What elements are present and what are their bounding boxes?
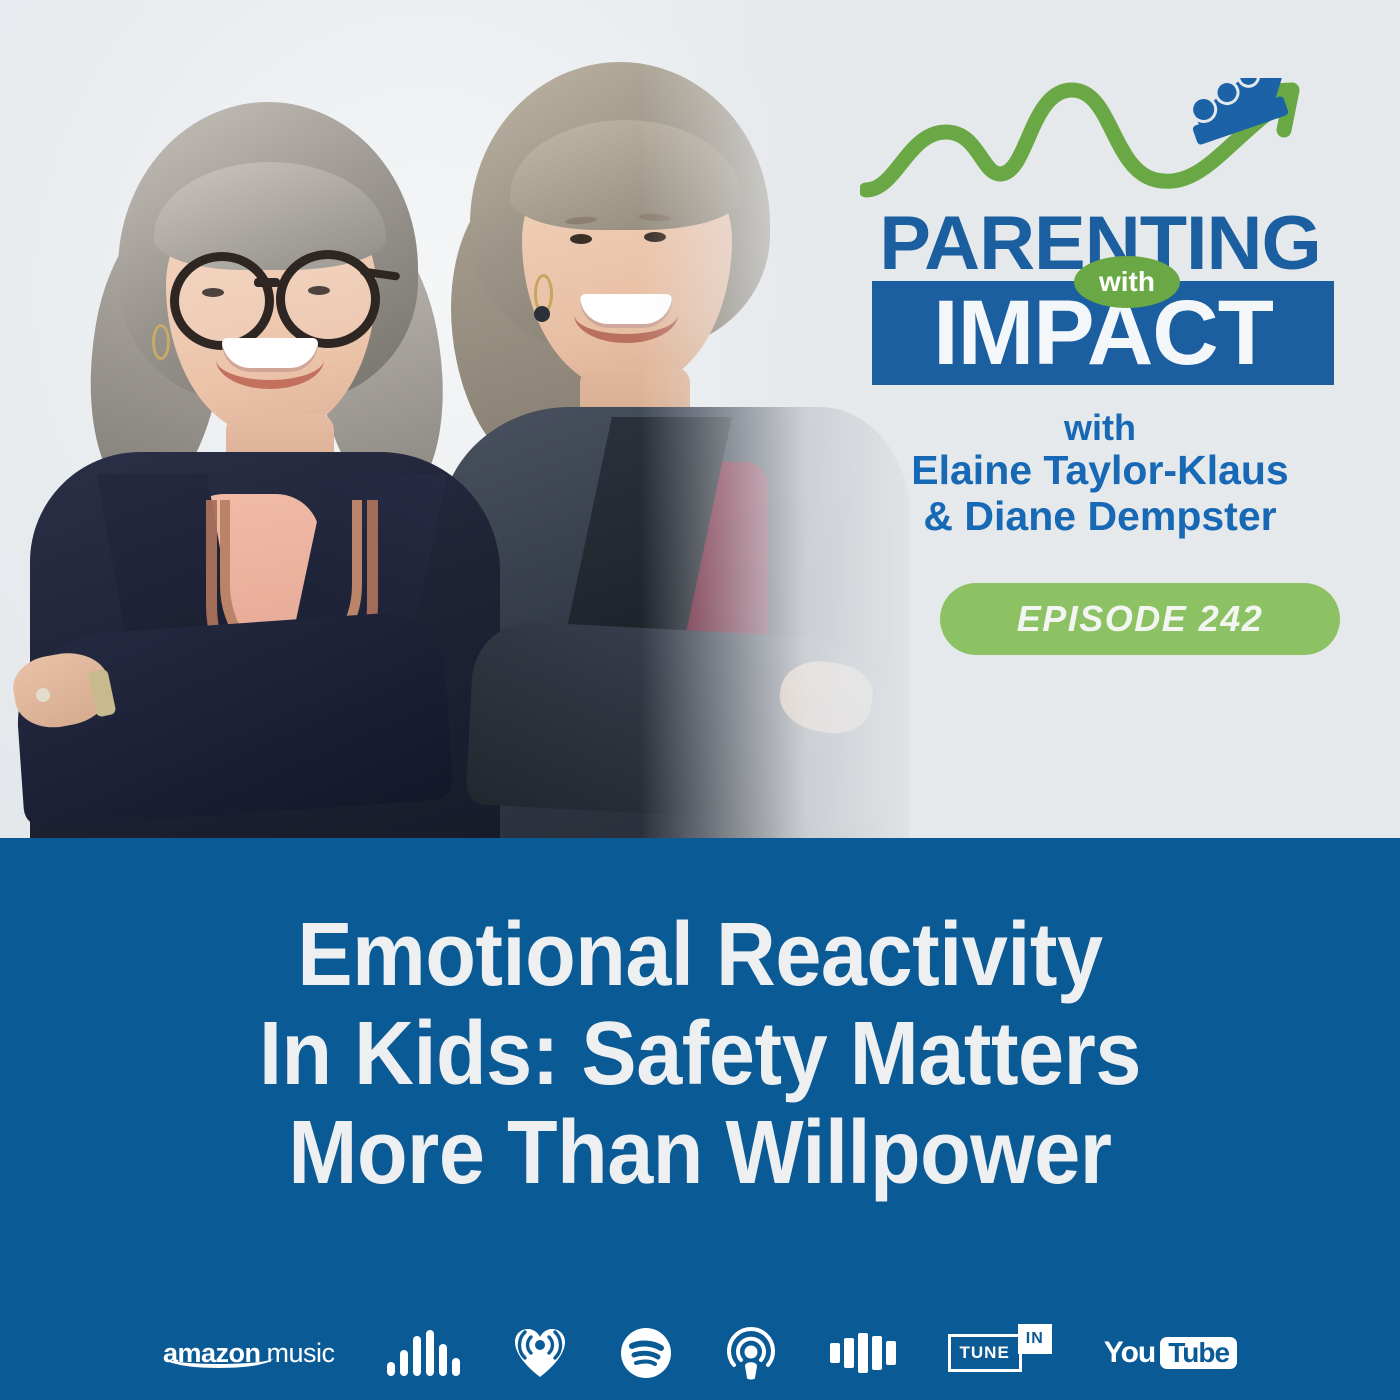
tunein-label-in: IN [1018,1324,1052,1354]
bars-bar-4 [872,1336,882,1370]
gpod-bar-3 [413,1336,421,1376]
eyeglasses-bridge [254,278,280,287]
gpod-bar-6 [452,1358,460,1376]
amazon-smile-arc-icon [165,1348,273,1368]
host-credits: with Elaine Taylor-Klaus & Diane Dempste… [860,408,1340,540]
youtube-label-tube: Tube [1160,1337,1237,1369]
bars-bar-5 [886,1341,896,1365]
episode-title: Emotional Reactivity In Kids: Safety Mat… [120,906,1279,1203]
tunein-icon[interactable]: TUNE IN [948,1323,1052,1383]
gpod-bar-5 [439,1344,447,1376]
bars-bar-1 [830,1343,840,1363]
amazon-music-label-light: music [266,1338,334,1368]
hero-section: PARENTING IMPACT with with Elaine Taylor… [0,0,1400,838]
finger-ring [36,688,50,702]
brand-with-badge: with [1074,256,1180,308]
episode-title-line-3: More Than Willpower [120,1104,1279,1203]
host-name-2: & Diane Dempster [860,494,1340,540]
earring-hoop [152,324,170,360]
bobsled-on-green-wave-icon [860,78,1350,208]
brand-logo-lockup: PARENTING IMPACT with with Elaine Taylor… [860,78,1360,698]
episode-badge: EPISODE 242 [940,583,1340,655]
bars-bar-2 [844,1338,854,1368]
episode-title-line-1: Emotional Reactivity [120,906,1279,1005]
bars-bar-3 [858,1333,868,1373]
gpod-bar-4 [426,1330,434,1376]
episode-title-line-2: In Kids: Safety Matters [120,1005,1279,1104]
youtube-icon[interactable]: You Tube [1104,1323,1237,1383]
spotify-icon[interactable] [620,1323,672,1383]
podcast-cover-art: PARENTING IMPACT with with Elaine Taylor… [0,0,1400,1400]
platform-logo-strip: amazonmusic [0,1310,1400,1396]
gpod-bar-2 [400,1350,408,1376]
amazon-music-icon[interactable]: amazonmusic [163,1323,335,1383]
youtube-label-you: You [1104,1336,1155,1370]
host-name-1: Elaine Taylor-Klaus [860,448,1340,494]
gpod-bar-1 [387,1362,395,1376]
eye-left [570,234,592,244]
google-podcasts-icon[interactable] [387,1323,460,1383]
tunein-label-tune: TUNE [948,1334,1022,1372]
hosts-photo [0,0,940,838]
teeth [222,338,318,372]
podcast-addict-icon[interactable] [830,1323,896,1383]
host-credit-with-label: with [860,408,1340,448]
episode-badge-label: EPISODE 242 [1017,598,1264,640]
iheartradio-icon[interactable] [512,1323,568,1383]
apple-podcasts-icon[interactable] [724,1323,778,1383]
